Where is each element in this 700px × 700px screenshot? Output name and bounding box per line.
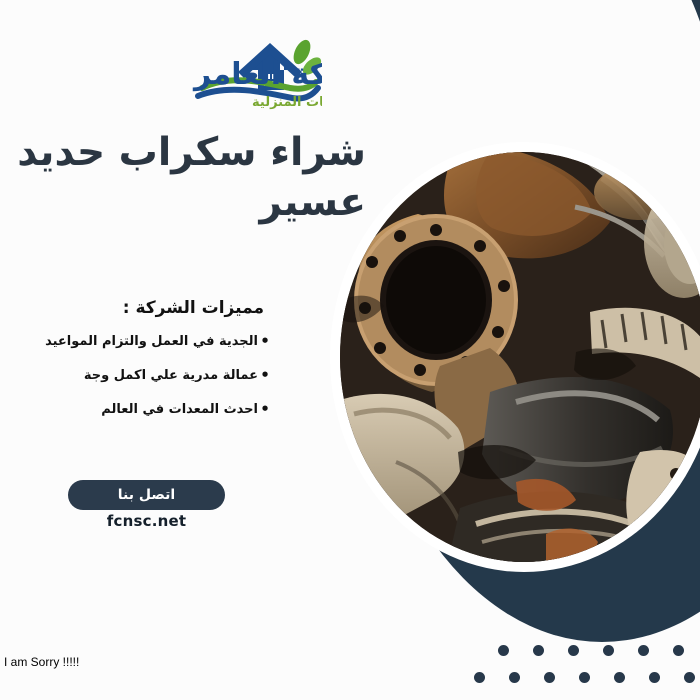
list-item: • الجدية في العمل والتزام المواعيد xyxy=(40,334,272,349)
dot xyxy=(603,645,614,656)
dot-grid-decoration xyxy=(498,645,695,699)
dot xyxy=(568,645,579,656)
dot xyxy=(474,672,485,683)
feature-text: احدث المعدات في العالم xyxy=(40,402,258,417)
dot xyxy=(638,645,649,656)
bullet-icon: • xyxy=(258,368,272,383)
dot xyxy=(684,672,695,683)
logo-subtitle: للخدمات المنزلية xyxy=(252,95,322,110)
dot-row xyxy=(498,645,695,656)
bullet-icon: • xyxy=(258,334,272,349)
dot xyxy=(673,645,684,656)
dot xyxy=(649,672,660,683)
dot xyxy=(533,645,544,656)
logo-artwork: شركة العامر للخدمات المنزلية xyxy=(52,26,322,112)
website-url[interactable]: fcnsc.net xyxy=(68,512,225,530)
features-list: • الجدية في العمل والتزام المواعيد • عما… xyxy=(40,334,272,417)
poster-canvas: شركة العامر للخدمات المنزلية شراء سكراب … xyxy=(0,0,700,700)
company-logo[interactable]: شركة العامر للخدمات المنزلية xyxy=(52,26,322,112)
error-note: I am Sorry !!!!! xyxy=(4,655,79,669)
features-title: مميزات الشركة : xyxy=(40,298,264,318)
list-item: • احدث المعدات في العالم xyxy=(40,402,272,417)
dot xyxy=(579,672,590,683)
logo-title: شركة العامر xyxy=(192,57,322,92)
bullet-icon: • xyxy=(258,402,272,417)
list-item: • عمالة مدرية علي اكمل وجة xyxy=(40,368,272,383)
dot xyxy=(544,672,555,683)
page-title: شراء سكراب حديد عسير xyxy=(16,128,366,228)
dot-row xyxy=(474,672,695,683)
contact-us-button[interactable]: اتصل بنا xyxy=(68,480,225,510)
dot xyxy=(498,645,509,656)
scrap-metal-illustration xyxy=(340,152,700,562)
dot xyxy=(614,672,625,683)
dot xyxy=(509,672,520,683)
features-section: مميزات الشركة : • الجدية في العمل والتزا… xyxy=(40,298,272,436)
photo-ring xyxy=(330,142,700,572)
feature-text: عمالة مدرية علي اكمل وجة xyxy=(40,368,258,383)
feature-text: الجدية في العمل والتزام المواعيد xyxy=(40,334,258,349)
scrap-metal-photo xyxy=(340,152,700,562)
